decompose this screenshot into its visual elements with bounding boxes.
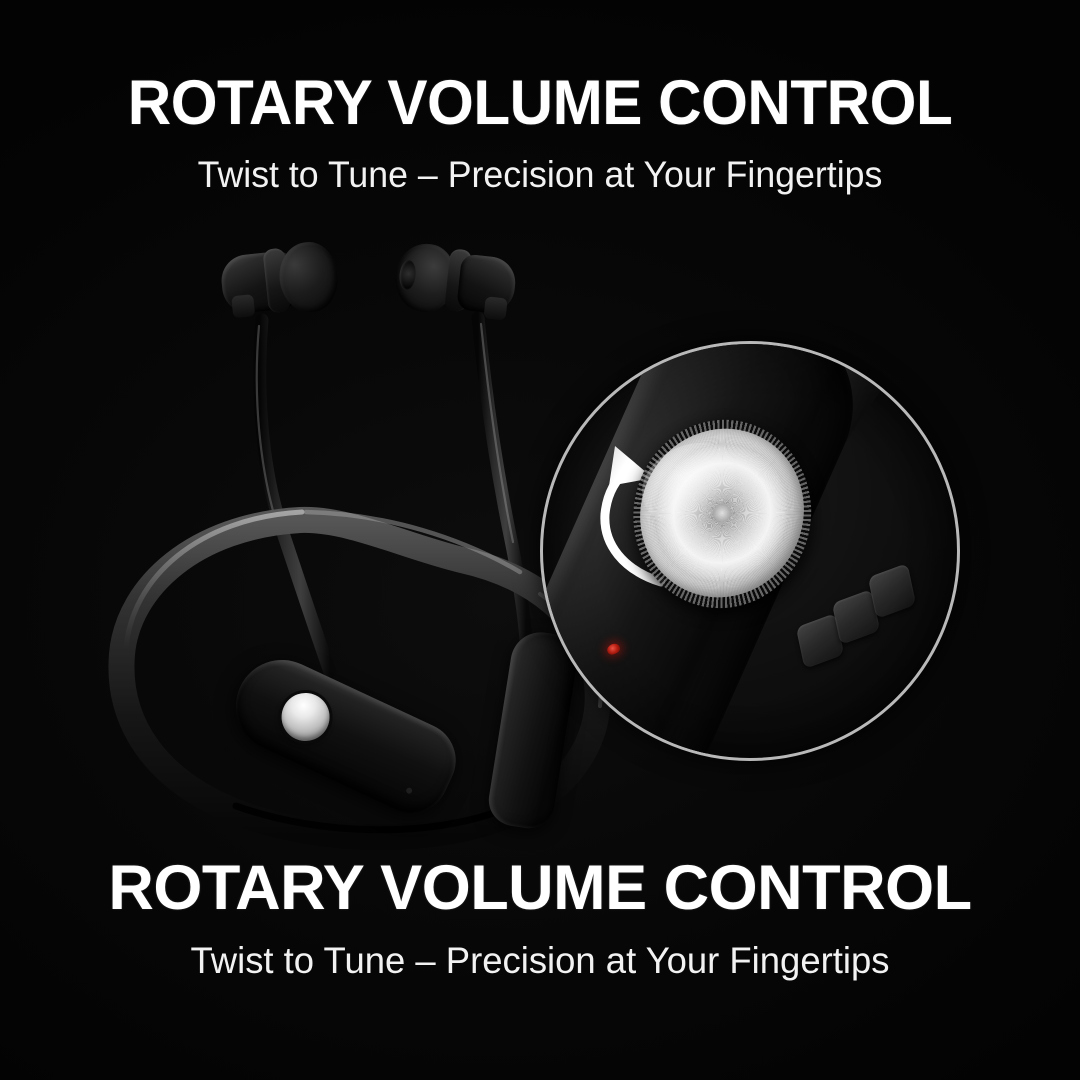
left-earbud <box>218 237 346 329</box>
magnified-detail-lens <box>540 341 960 761</box>
page-subtitle-bottom: Twist to Tune – Precision at Your Finger… <box>8 942 1072 979</box>
right-earbud-cable-nub <box>483 296 507 320</box>
right-earbud <box>391 237 519 329</box>
button-pad-group <box>799 558 939 678</box>
button-pad-3[interactable] <box>868 563 916 619</box>
promo-banner: ROTARY VOLUME CONTROL Twist to Tune – Pr… <box>0 0 1080 1080</box>
left-earbud-cable-nub <box>231 294 255 318</box>
bottom-text-block: ROTARY VOLUME CONTROL Twist to Tune – Pr… <box>0 857 1080 979</box>
page-title-bottom: ROTARY VOLUME CONTROL <box>0 857 1080 920</box>
